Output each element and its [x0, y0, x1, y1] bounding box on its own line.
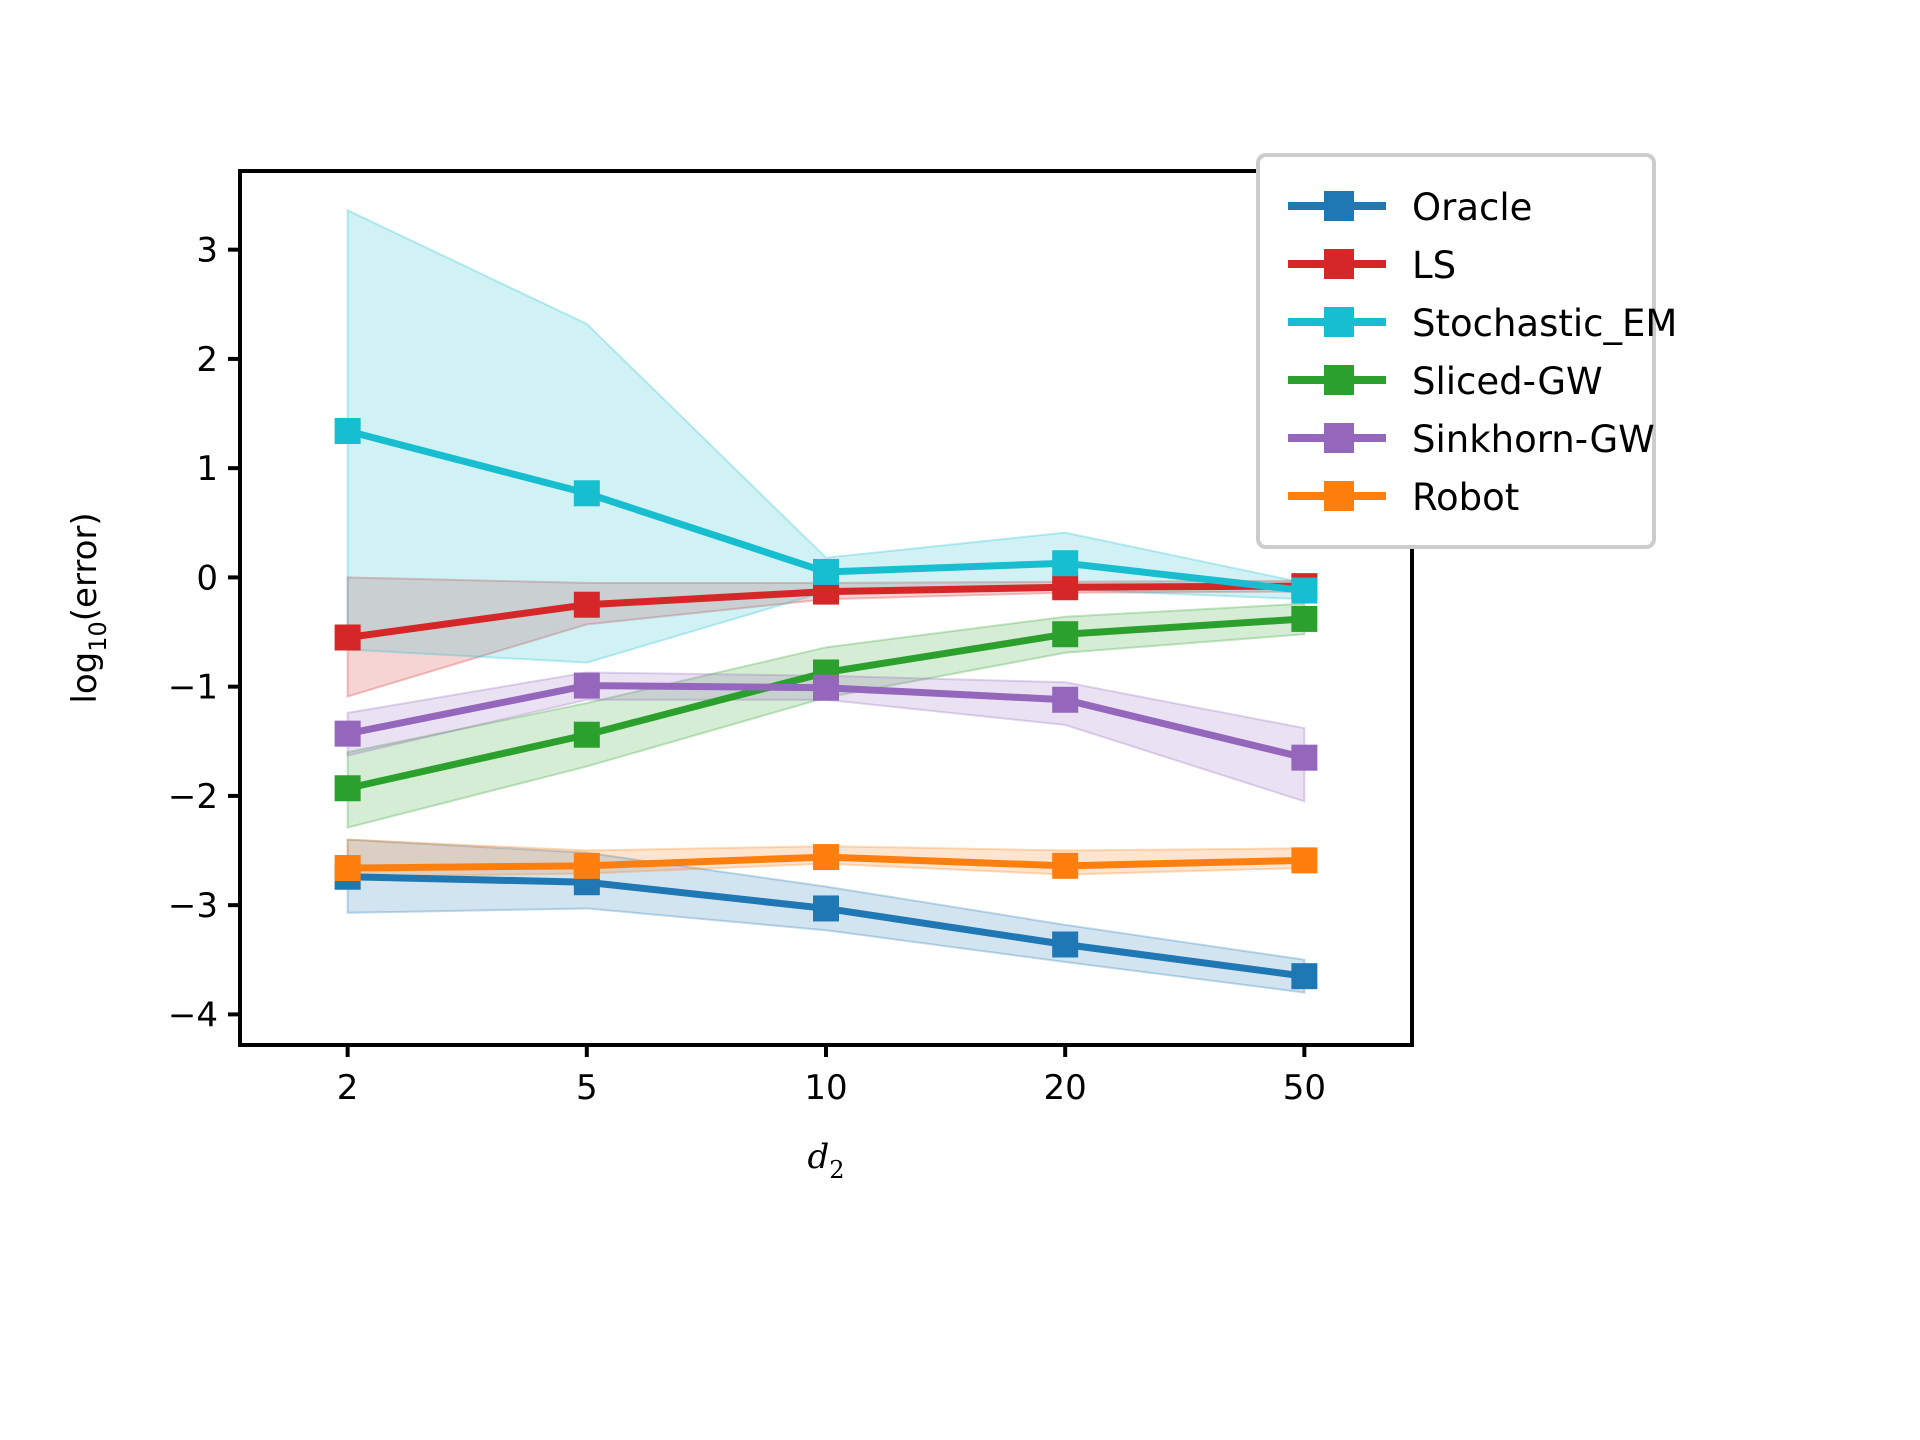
marker-stochastic_em-20 — [1052, 550, 1078, 576]
chart-figure: 3210−1−2−3−425102050d2log10(error)Oracle… — [0, 0, 1920, 1440]
marker-sliced-gw-2 — [335, 775, 361, 801]
y-tick-label-2: 1 — [196, 449, 218, 489]
marker-stochastic_em-10 — [813, 559, 839, 585]
marker-sinkhorn-gw-50 — [1291, 745, 1317, 771]
x-tick-label-1: 5 — [576, 1068, 598, 1108]
y-tick-label-1: 2 — [196, 340, 218, 380]
marker-robot-2 — [335, 855, 361, 881]
marker-oracle-10 — [813, 895, 839, 921]
y-tick-label-0: 3 — [196, 231, 218, 271]
marker-robot-10 — [813, 844, 839, 870]
legend-marker-sliced-gw — [1324, 365, 1354, 395]
marker-sliced-gw-20 — [1052, 621, 1078, 647]
marker-oracle-50 — [1291, 963, 1317, 989]
legend-label-robot: Robot — [1412, 476, 1519, 519]
y-tick-label-5: −2 — [168, 777, 218, 817]
legend-marker-robot — [1324, 481, 1354, 511]
legend-marker-oracle — [1324, 191, 1354, 221]
marker-robot-50 — [1291, 847, 1317, 873]
marker-sinkhorn-gw-10 — [813, 675, 839, 701]
legend-label-ls: LS — [1412, 244, 1456, 287]
y-tick-label-3: 0 — [196, 558, 218, 598]
legend-label-oracle: Oracle — [1412, 186, 1532, 229]
x-tick-label-3: 20 — [1044, 1068, 1087, 1108]
y-axis-label: log10(error) — [65, 512, 112, 703]
marker-oracle-20 — [1052, 931, 1078, 957]
marker-sinkhorn-gw-20 — [1052, 687, 1078, 713]
marker-ls-5 — [574, 592, 600, 618]
marker-sinkhorn-gw-5 — [574, 673, 600, 699]
marker-stochastic_em-5 — [574, 480, 600, 506]
marker-robot-5 — [574, 853, 600, 879]
x-tick-label-2: 10 — [804, 1068, 847, 1108]
y-tick-label-6: −3 — [168, 886, 218, 926]
legend-label-stochastic_em: Stochastic_EM — [1412, 302, 1677, 345]
marker-ls-2 — [335, 625, 361, 651]
marker-sliced-gw-5 — [574, 722, 600, 748]
legend-marker-sinkhorn-gw — [1324, 423, 1354, 453]
chart-canvas: 3210−1−2−3−425102050d2log10(error)Oracle… — [0, 0, 1920, 1440]
marker-robot-20 — [1052, 853, 1078, 879]
marker-stochastic_em-2 — [335, 418, 361, 444]
legend-marker-ls — [1324, 249, 1354, 279]
legend-label-sliced-gw: Sliced-GW — [1412, 360, 1603, 403]
marker-stochastic_em-50 — [1291, 578, 1317, 604]
marker-ls-20 — [1052, 574, 1078, 600]
x-tick-label-4: 50 — [1283, 1068, 1326, 1108]
marker-sliced-gw-50 — [1291, 606, 1317, 632]
marker-sinkhorn-gw-2 — [335, 721, 361, 747]
y-tick-label-4: −1 — [168, 668, 218, 708]
y-tick-label-7: −4 — [168, 995, 218, 1035]
x-tick-label-0: 2 — [337, 1068, 359, 1108]
legend: OracleLSStochastic_EMSliced-GWSinkhorn-G… — [1258, 155, 1677, 547]
legend-marker-stochastic_em — [1324, 307, 1354, 337]
legend-label-sinkhorn-gw: Sinkhorn-GW — [1412, 418, 1655, 461]
